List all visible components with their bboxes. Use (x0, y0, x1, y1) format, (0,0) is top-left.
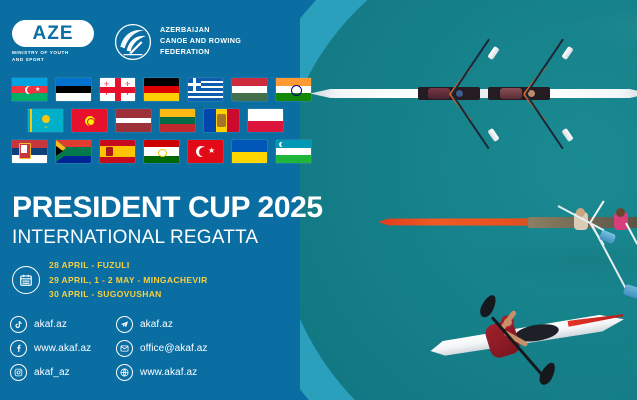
rower-head (456, 90, 463, 97)
coastal-rowing-shell (378, 200, 637, 260)
federation-text: AZERBAIJAN CANOE AND ROWING FEDERATION (160, 25, 241, 57)
flag-serbia (12, 140, 47, 163)
flag-greece (188, 78, 223, 101)
flag-india (276, 78, 311, 101)
flag-turkey: ★ (188, 140, 223, 163)
telegram-icon (116, 316, 133, 333)
ministry-subtitle: MINISTRY OF YOUTH AND SPORT (12, 50, 94, 63)
flag-south-africa (56, 140, 91, 163)
flag-row-1: ★ ✛ ✛ ✛ ✛ (0, 78, 322, 101)
flag-moldova (204, 109, 239, 132)
logo-row: AZE MINISTRY OF YOUTH AND SPORT AZE (12, 20, 241, 63)
globe-icon (116, 364, 133, 381)
page-title: PRESIDENT CUP 2025 (12, 193, 323, 223)
aze-mark: AZE (33, 24, 74, 43)
contact-instagram-text: akaf_az (34, 367, 70, 378)
email-icon (116, 340, 133, 357)
schedule-block: 28 APRIL - FUZULI 29 APRIL, 1 - 2 MAY - … (12, 258, 208, 302)
contact-tiktok[interactable]: akaf.az (10, 316, 102, 333)
flag-lithuania (160, 109, 195, 132)
rower-athlete (428, 88, 450, 99)
contact-website-text: www.akaf.az (140, 367, 197, 378)
double-scull-boat (310, 56, 637, 134)
flag-azerbaijan: ★ (12, 78, 47, 101)
facebook-icon (10, 340, 27, 357)
schedule-line-3: 30 APRIL - SUGOVUSHAN (49, 287, 208, 302)
federation-line1: AZERBAIJAN (160, 25, 241, 36)
flag-kazakhstan: ⌄ (28, 109, 63, 132)
contacts-column-left: akaf.az www.akaf.az (10, 316, 102, 381)
instagram-icon (10, 364, 27, 381)
flag-hungary (232, 78, 267, 101)
ministry-logo: AZE MINISTRY OF YOUTH AND SPORT (12, 20, 94, 63)
flag-row-2: ⌄ (0, 109, 322, 132)
paddle-blade (477, 293, 499, 320)
contact-facebook[interactable]: www.akaf.az (10, 340, 102, 357)
flag-ukraine (232, 140, 267, 163)
schedule-line-2: 29 APRIL, 1 - 2 MAY - MINGACHEVIR (49, 273, 208, 288)
contact-tiktok-text: akaf.az (34, 319, 67, 330)
contact-telegram-text: akaf.az (140, 319, 173, 330)
flag-uzbekistan (276, 140, 311, 163)
flag-latvia (116, 109, 151, 132)
ministry-subtitle-line1: MINISTRY OF YOUTH (12, 50, 94, 57)
schedule-lines: 28 APRIL - FUZULI 29 APRIL, 1 - 2 MAY - … (49, 258, 208, 302)
contacts-column-right: akaf.az office@akaf.az (116, 316, 208, 381)
flag-row-3: ★ (0, 140, 322, 163)
athlete-head (616, 208, 625, 217)
flag-germany (144, 78, 179, 101)
poster-root: AZE MINISTRY OF YOUTH AND SPORT AZE (0, 0, 637, 400)
flag-tajikistan (144, 140, 179, 163)
ministry-subtitle-line2: AND SPORT (12, 57, 94, 64)
page-subtitle: INTERNATIONAL REGATTA (12, 228, 258, 247)
contact-facebook-text: www.akaf.az (34, 343, 91, 354)
contact-telegram[interactable]: akaf.az (116, 316, 208, 333)
flag-poland (248, 109, 283, 132)
contacts-block: akaf.az www.akaf.az (10, 316, 208, 381)
contact-email-text: office@akaf.az (140, 343, 208, 354)
federation-logo: AZERBAIJAN CANOE AND ROWING FEDERATION (114, 23, 241, 61)
rower-athlete (500, 88, 522, 99)
participating-nations-flags: ★ ✛ ✛ ✛ ✛ (0, 78, 322, 171)
flag-estonia (56, 78, 91, 101)
flag-georgia: ✛ ✛ ✛ ✛ (100, 78, 135, 101)
tiktok-icon (10, 316, 27, 333)
contact-website[interactable]: www.akaf.az (116, 364, 208, 381)
contact-instagram[interactable]: akaf_az (10, 364, 102, 381)
canoe-rowing-wave-emblem-icon (114, 23, 152, 61)
content-panel: AZE MINISTRY OF YOUTH AND SPORT AZE (0, 0, 330, 400)
federation-line3: FEDERATION (160, 47, 241, 58)
paddle-blade (537, 360, 559, 387)
calendar-icon (12, 266, 40, 294)
contact-email[interactable]: office@akaf.az (116, 340, 208, 357)
federation-line2: CANOE AND ROWING (160, 36, 241, 47)
flag-spain (100, 140, 135, 163)
aze-pill: AZE (12, 20, 94, 47)
regatta-photo (300, 0, 637, 400)
schedule-line-1: 28 APRIL - FUZULI (49, 258, 208, 273)
flag-kyrgyzstan (72, 109, 107, 132)
